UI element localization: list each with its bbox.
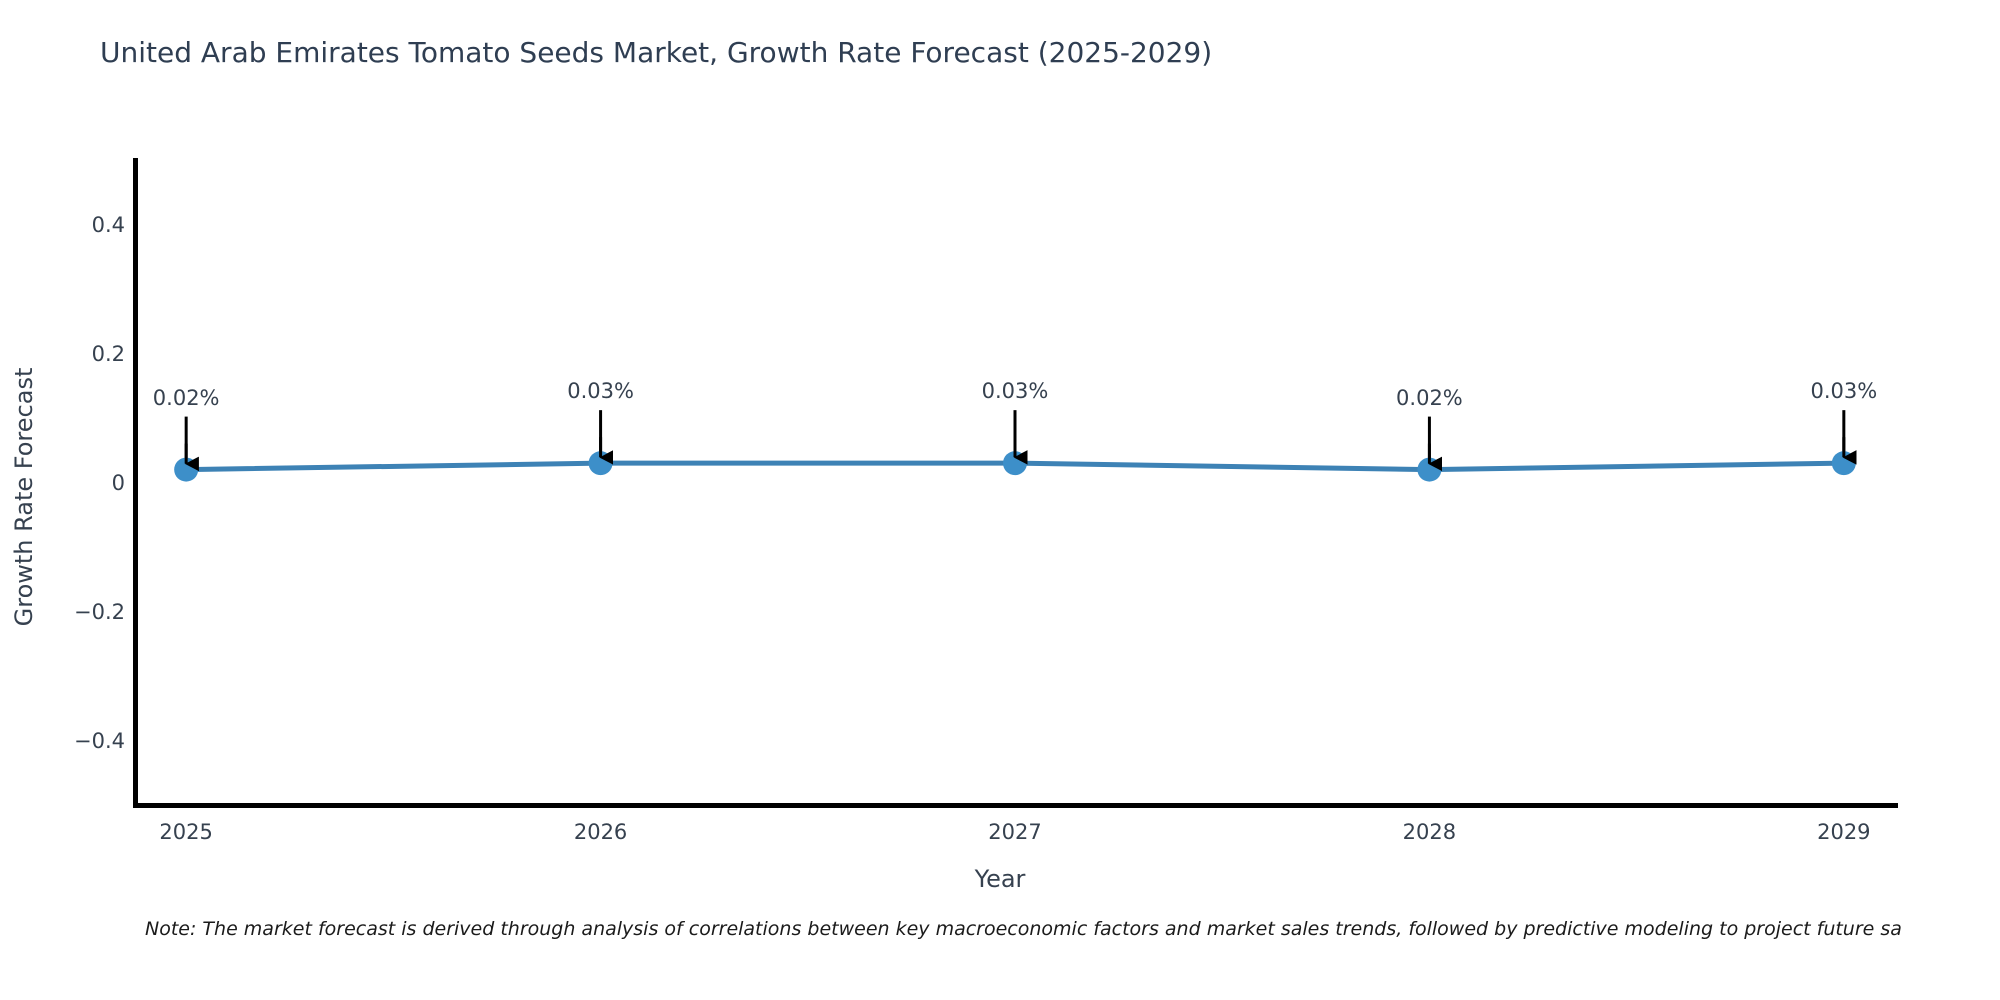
series-line: [186, 463, 1844, 469]
data-point-label: 0.03%: [915, 379, 1115, 403]
y-axis-spine: [133, 158, 138, 808]
data-point-label: 0.03%: [501, 379, 701, 403]
data-point-marker[interactable]: [1832, 451, 1856, 475]
x-tick-label: 2029: [1764, 820, 1924, 844]
data-point-marker[interactable]: [1003, 451, 1027, 475]
chart-figure: United Arab Emirates Tomato Seeds Market…: [0, 0, 2000, 1000]
chart-footnote: Note: The market forecast is derived thr…: [145, 918, 1902, 940]
x-tick-label: 2026: [521, 820, 681, 844]
data-point-marker[interactable]: [589, 451, 613, 475]
data-point-label: 0.02%: [86, 386, 286, 410]
y-tick-label: 0.4: [5, 213, 125, 237]
data-point-marker[interactable]: [1417, 458, 1441, 482]
x-tick-label: 2025: [106, 820, 266, 844]
x-axis-title: Year: [0, 865, 2000, 893]
data-point-label: 0.03%: [1744, 379, 1944, 403]
series-layer: [0, 0, 2000, 1000]
y-axis-title: Growth Rate Forecast: [10, 237, 38, 757]
data-point-label: 0.02%: [1329, 386, 1529, 410]
x-axis-spine: [133, 803, 1898, 808]
page-title: United Arab Emirates Tomato Seeds Market…: [100, 36, 1212, 69]
x-tick-label: 2027: [935, 820, 1095, 844]
x-tick-label: 2028: [1349, 820, 1509, 844]
data-point-marker[interactable]: [174, 458, 198, 482]
